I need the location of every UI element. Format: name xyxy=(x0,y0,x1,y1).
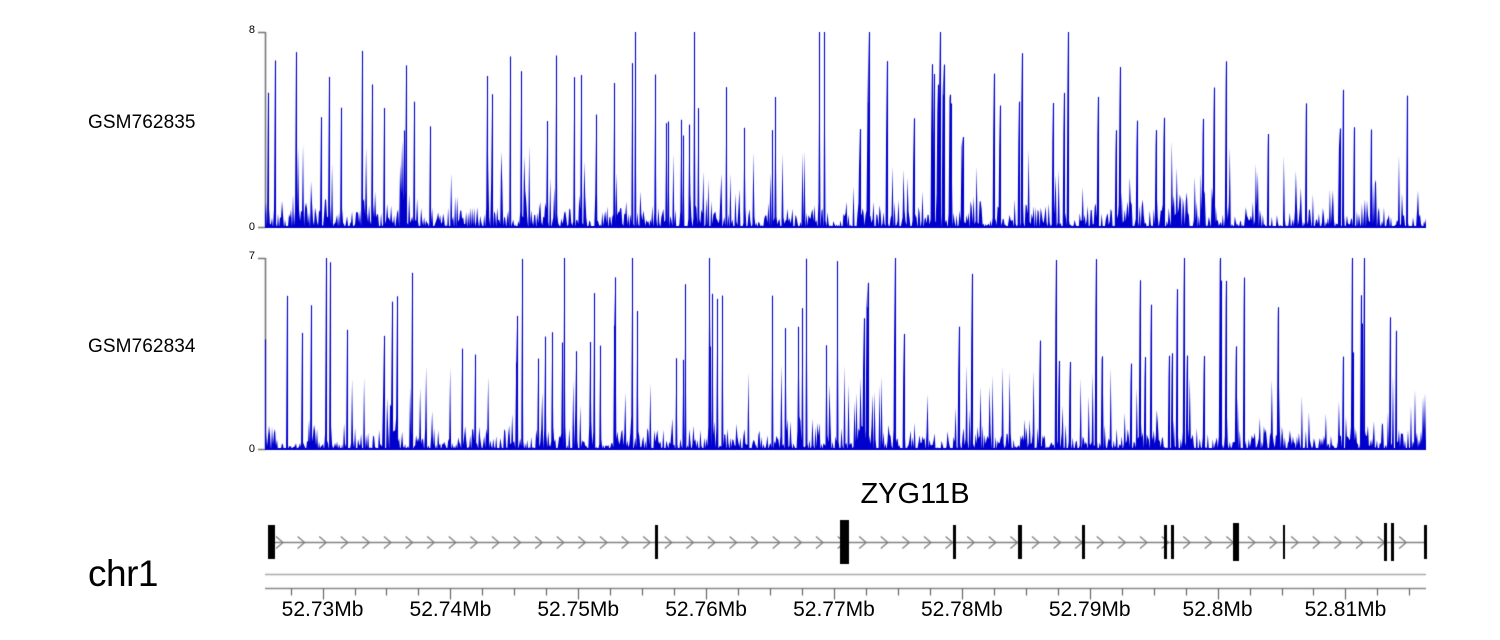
ruler-tick-label: 52.76Mb xyxy=(665,598,747,622)
ruler-tick-label: 52.81Mb xyxy=(1305,598,1387,622)
track-2-axis-max: 7 xyxy=(225,250,255,262)
track-2-signal-plot[interactable] xyxy=(253,252,1434,456)
ruler-tick-label: 52.75Mb xyxy=(537,598,619,622)
ruler-ticks[interactable] xyxy=(0,568,1500,604)
ruler-tick-label: 52.78Mb xyxy=(921,598,1003,622)
ruler-tick-label: 52.8Mb xyxy=(1183,598,1253,622)
ruler-tick-label: 52.73Mb xyxy=(282,598,364,622)
genome-browser-view: GSM762835 8 0 GSM762834 7 0 chr1 ZYG11B … xyxy=(0,0,1500,640)
ruler-tick-label: 52.79Mb xyxy=(1049,598,1131,622)
track-label-2: GSM762834 xyxy=(88,336,196,358)
ruler-tick-label: 52.77Mb xyxy=(793,598,875,622)
track-2-axis-min: 0 xyxy=(225,443,255,455)
ruler-tick-label: 52.74Mb xyxy=(410,598,492,622)
